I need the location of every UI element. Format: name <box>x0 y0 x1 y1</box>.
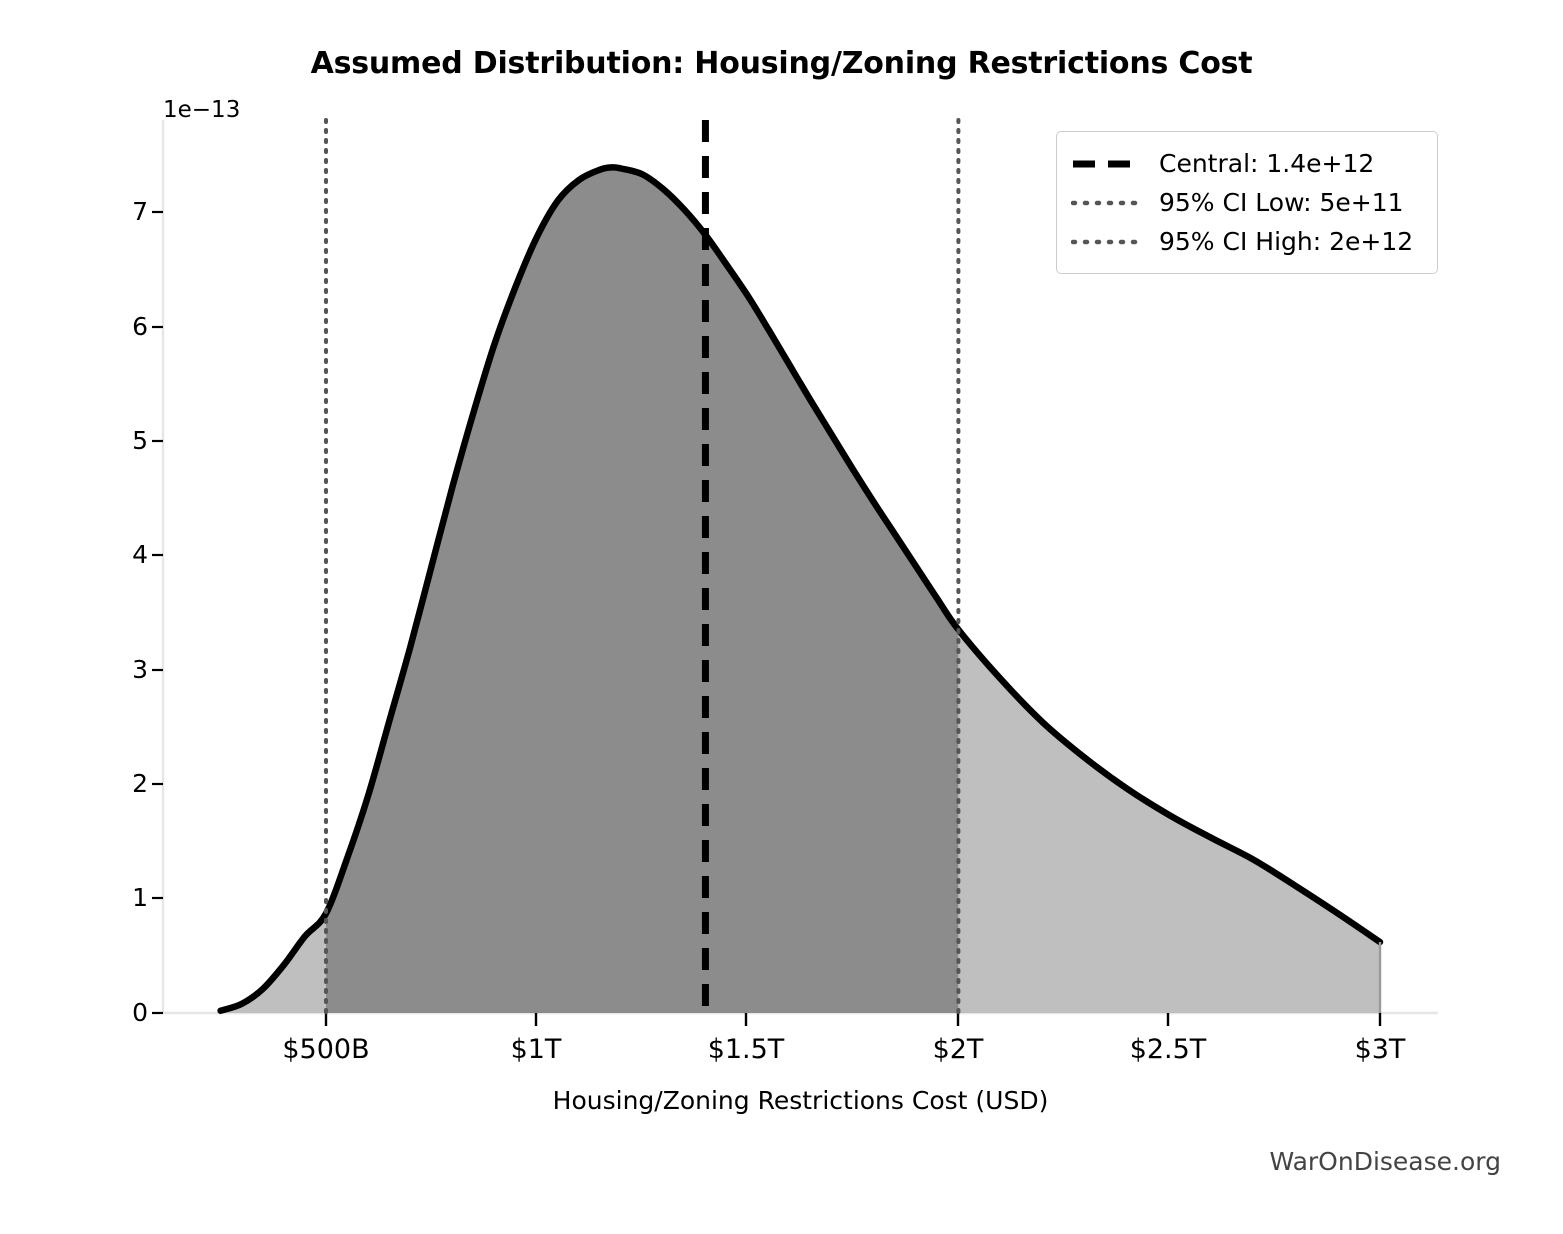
xtick-label-500b: $500B <box>236 1034 416 1065</box>
ytick-label-6: 6 <box>88 312 148 341</box>
x-axis-ticks <box>326 1013 1380 1026</box>
ytick-label-5: 5 <box>88 426 148 455</box>
xtick-label-1t: $1T <box>446 1034 626 1065</box>
ytick-label-2: 2 <box>88 769 148 798</box>
ytick-label-4: 4 <box>88 540 148 569</box>
legend-item-ci-low: 95% CI Low: 5e+11 <box>1071 183 1423 222</box>
y-axis-ticks <box>152 212 163 1013</box>
xtick-label-1-5t: $1.5T <box>656 1034 836 1065</box>
ytick-label-7: 7 <box>88 197 148 226</box>
legend-item-central: Central: 1.4e+12 <box>1071 144 1423 183</box>
legend-label-ci-high: 95% CI High: 2e+12 <box>1159 227 1413 256</box>
ytick-label-1: 1 <box>88 883 148 912</box>
x-axis-label: Housing/Zoning Restrictions Cost (USD) <box>163 1086 1438 1115</box>
ytick-label-0: 0 <box>88 998 148 1027</box>
xtick-label-2-5t: $2.5T <box>1078 1034 1258 1065</box>
watermark: WarOnDisease.org <box>1269 1147 1501 1176</box>
legend-label-central: Central: 1.4e+12 <box>1159 149 1374 178</box>
dotted-line-swatch-icon <box>1071 193 1143 213</box>
xtick-label-2t: $2T <box>868 1034 1048 1065</box>
legend-item-ci-high: 95% CI High: 2e+12 <box>1071 222 1423 261</box>
dashed-line-swatch-icon <box>1071 154 1143 174</box>
legend-label-ci-low: 95% CI Low: 5e+11 <box>1159 188 1404 217</box>
dotted-line-swatch-icon-2 <box>1071 232 1143 252</box>
xtick-label-3t: $3T <box>1290 1034 1470 1065</box>
chart-root: Assumed Distribution: Housing/Zoning Res… <box>0 0 1563 1234</box>
legend: Central: 1.4e+12 95% CI Low: 5e+11 95% C… <box>1056 131 1438 274</box>
ytick-label-3: 3 <box>88 655 148 684</box>
